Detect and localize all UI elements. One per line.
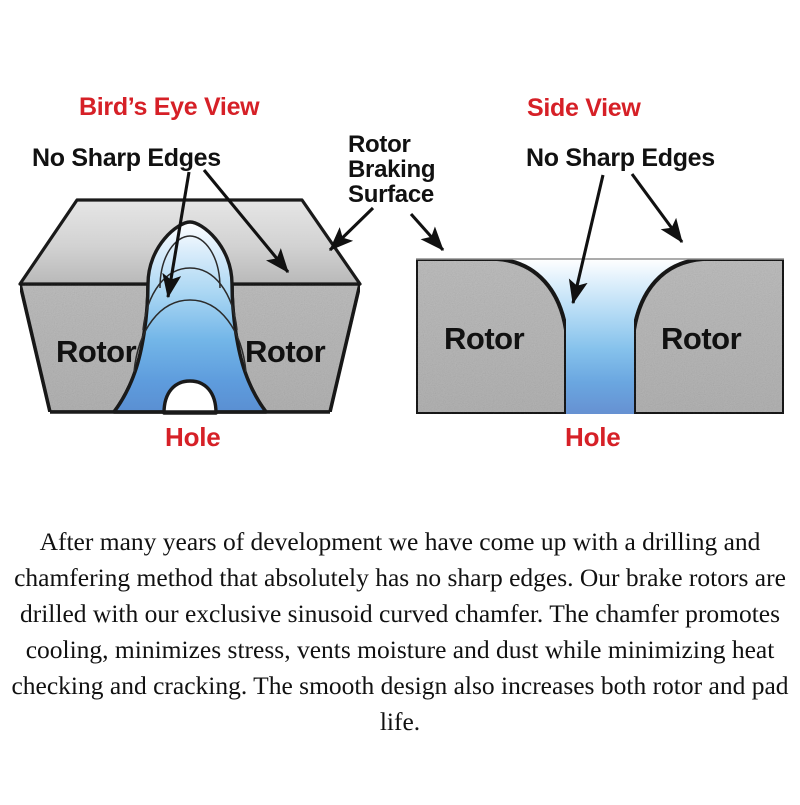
rotor-braking-surface-line-3: Surface: [348, 181, 434, 208]
side-view-rotor-label-right: Rotor: [661, 321, 742, 356]
birds-eye-rotor-label-left: Rotor: [56, 334, 137, 369]
side-view-hole-label: Hole: [565, 422, 621, 452]
arrow-no-sharp-edges-right-sv: [632, 174, 682, 242]
side-view-title: Side View: [527, 94, 641, 122]
side-view-no-sharp-edges-label: No Sharp Edges: [526, 144, 715, 172]
birds-eye-view-diagram: Rotor Rotor: [20, 200, 360, 413]
rotor-braking-surface-label: Rotor Braking Surface: [348, 131, 435, 208]
birds-eye-rotor-label-right: Rotor: [245, 334, 326, 369]
rotor-braking-surface-line-1: Rotor: [348, 131, 411, 158]
birds-eye-no-sharp-edges-label: No Sharp Edges: [32, 144, 221, 172]
arrow-braking-surface-right: [411, 214, 443, 250]
side-view-diagram: Rotor Rotor: [416, 259, 784, 414]
side-view-rotor-label-left: Rotor: [444, 321, 525, 356]
birds-eye-title: Bird’s Eye View: [79, 93, 260, 121]
birds-eye-hole-label: Hole: [165, 422, 221, 452]
description-paragraph: After many years of development we have …: [10, 524, 790, 740]
rotor-chamfer-figure: Rotor Rotor Rotor Rotor: [0, 0, 800, 800]
arrow-braking-surface-left: [330, 208, 373, 250]
rotor-braking-surface-line-2: Braking: [348, 156, 435, 183]
